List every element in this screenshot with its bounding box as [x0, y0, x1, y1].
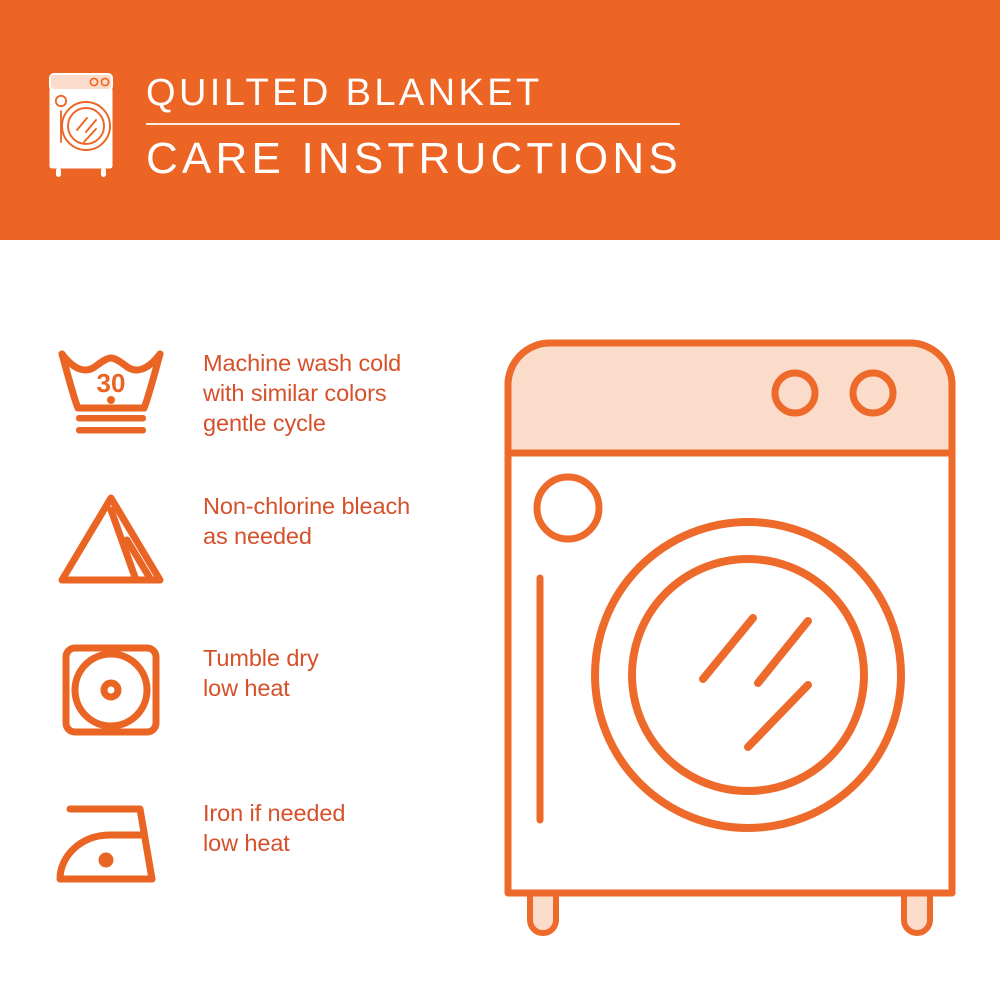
- care-item-text: Non-chlorine bleach as needed: [203, 491, 493, 551]
- page-title-secondary: CARE INSTRUCTIONS: [146, 133, 746, 185]
- wash-temperature-label: 30: [97, 368, 126, 398]
- care-text-line: low heat: [203, 828, 493, 858]
- page-title-primary: QUILTED BLANKET: [146, 70, 746, 116]
- iron-low-heat-icon: [48, 790, 174, 900]
- wash-basin-30-icon: 30: [48, 340, 174, 450]
- header-band: QUILTED BLANKET CARE INSTRUCTIONS: [0, 0, 1000, 240]
- header-text-block: QUILTED BLANKET CARE INSTRUCTIONS: [146, 70, 746, 185]
- washing-machine-icon: [44, 66, 122, 178]
- front-load-washing-machine-illustration: [490, 325, 970, 950]
- care-text-line: Non-chlorine bleach: [203, 491, 493, 521]
- care-text-line: gentle cycle: [203, 408, 493, 438]
- care-text-line: Iron if needed: [203, 798, 493, 828]
- care-item-bleach: Non-chlorine bleach as needed: [0, 483, 500, 633]
- care-item-iron: Iron if needed low heat: [0, 790, 500, 940]
- care-text-line: with similar colors: [203, 378, 493, 408]
- title-divider: [146, 123, 680, 125]
- tumble-dry-low-heat-icon: [48, 635, 174, 745]
- care-text-line: Machine wash cold: [203, 348, 493, 378]
- care-item-machine-wash: 30 Machine wash cold with similar colors…: [0, 340, 500, 490]
- non-chlorine-bleach-triangle-icon: [48, 483, 174, 593]
- care-item-text: Tumble dry low heat: [203, 643, 493, 703]
- care-text-line: low heat: [203, 673, 493, 703]
- care-instructions-list: 30 Machine wash cold with similar colors…: [0, 240, 500, 1000]
- care-item-tumble-dry: Tumble dry low heat: [0, 635, 500, 785]
- care-item-text: Machine wash cold with similar colors ge…: [203, 348, 493, 438]
- care-item-text: Iron if needed low heat: [203, 798, 493, 858]
- care-text-line: as needed: [203, 521, 493, 551]
- care-instructions-page: QUILTED BLANKET CARE INSTRUCTIONS 30: [0, 0, 1000, 1000]
- care-text-line: Tumble dry: [203, 643, 493, 673]
